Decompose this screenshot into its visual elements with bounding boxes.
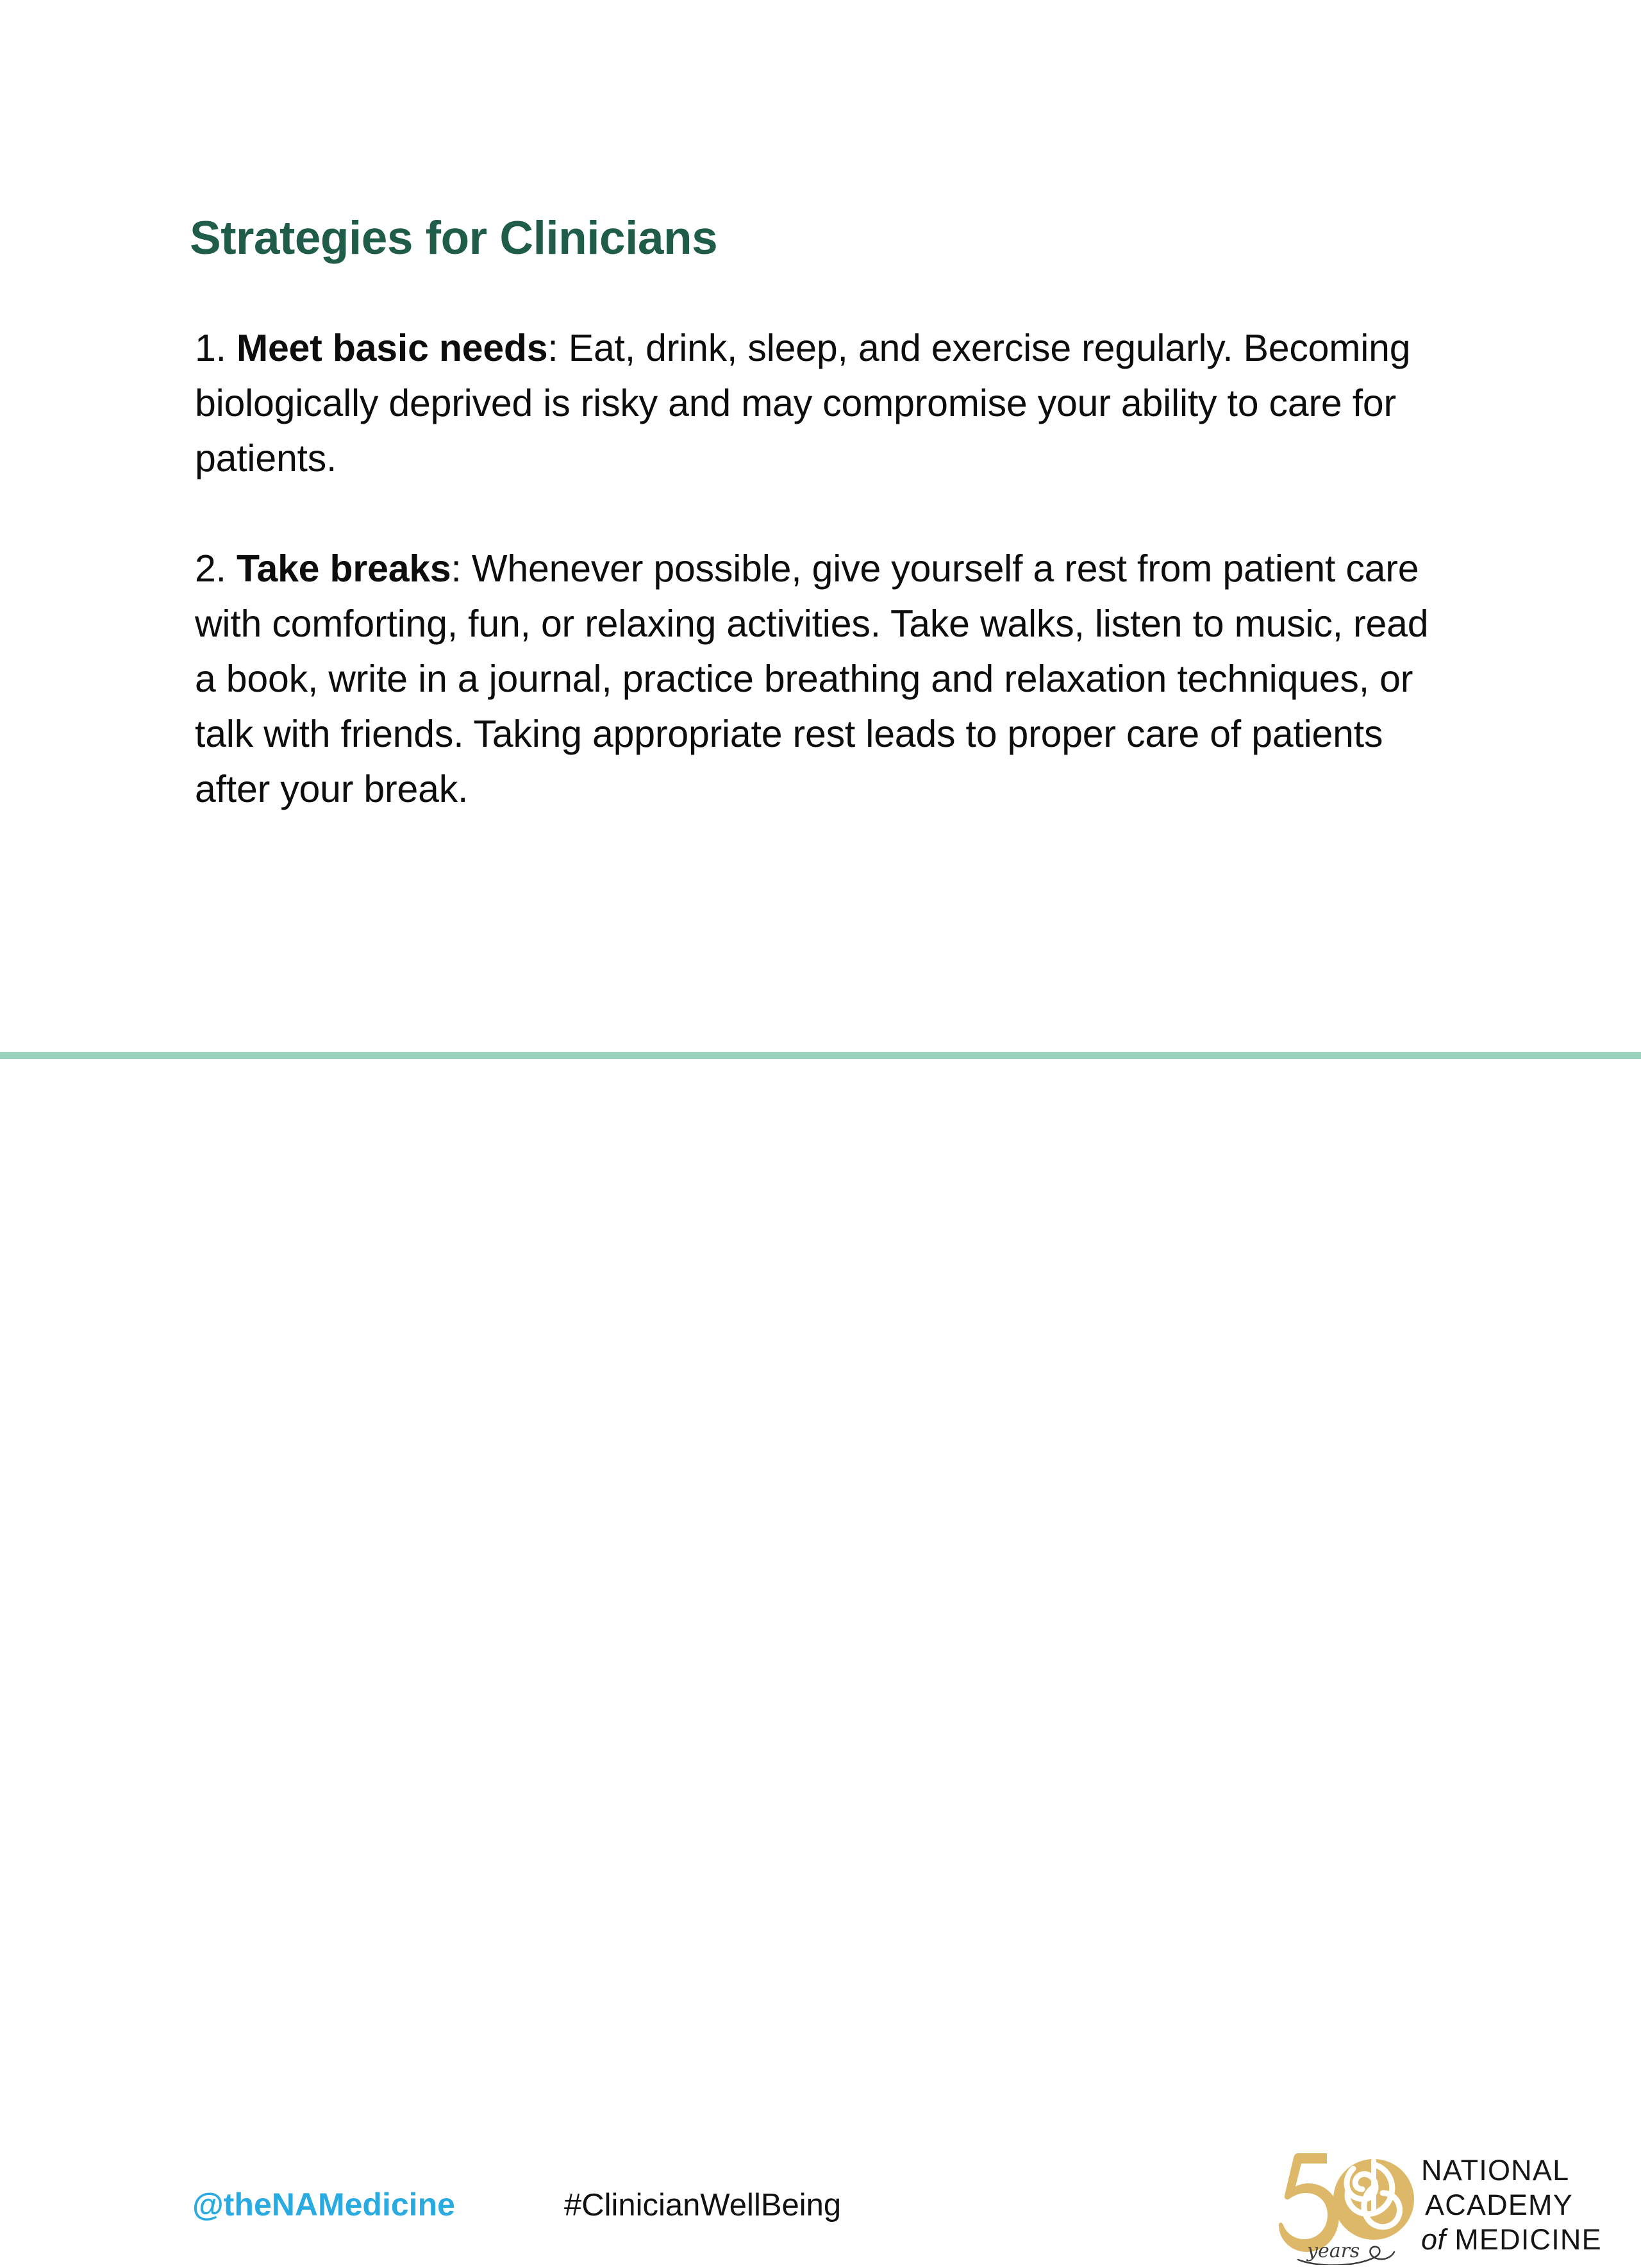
- fifty-years-anniversary-icon: years: [1279, 2149, 1417, 2265]
- nam-of-word: of: [1421, 2223, 1446, 2256]
- strategy-2-lead: Take breaks: [237, 547, 451, 590]
- national-academy-of-medicine-logo: years NATIONAL ACADEMY of MEDICINE: [1279, 2149, 1628, 2265]
- page-title: Strategies for Clinicians: [190, 213, 717, 264]
- twitter-handle[interactable]: @theNAMedicine: [192, 2186, 455, 2223]
- nam-wordmark-text: NATIONAL ACADEMY of MEDICINE: [1421, 2153, 1629, 2257]
- campaign-hashtag[interactable]: #ClinicianWellBeing: [564, 2187, 841, 2223]
- strategy-item-2: 2. Take breaks: Whenever possible, give …: [195, 541, 1451, 817]
- strategy-1-lead: Meet basic needs: [237, 327, 547, 369]
- strategy-1-number: 1.: [195, 327, 237, 369]
- nam-medicine-word: MEDICINE: [1454, 2223, 1602, 2256]
- body-content: 1. Meet basic needs: Eat, drink, sleep, …: [195, 321, 1451, 817]
- nam-line-medicine: of MEDICINE: [1421, 2222, 1629, 2257]
- nam-line-national: NATIONAL: [1421, 2153, 1629, 2188]
- slide-footer: @theNAMedicine #ClinicianWellBeing years: [0, 1052, 1641, 1231]
- strategy-2-number: 2.: [195, 547, 237, 590]
- svg-text:years: years: [1306, 2240, 1360, 2262]
- nam-line-academy: ACADEMY: [1421, 2188, 1629, 2222]
- strategy-item-1: 1. Meet basic needs: Eat, drink, sleep, …: [195, 321, 1451, 486]
- slide-canvas: Strategies for Clinicians 1. Meet basic …: [0, 0, 1641, 1231]
